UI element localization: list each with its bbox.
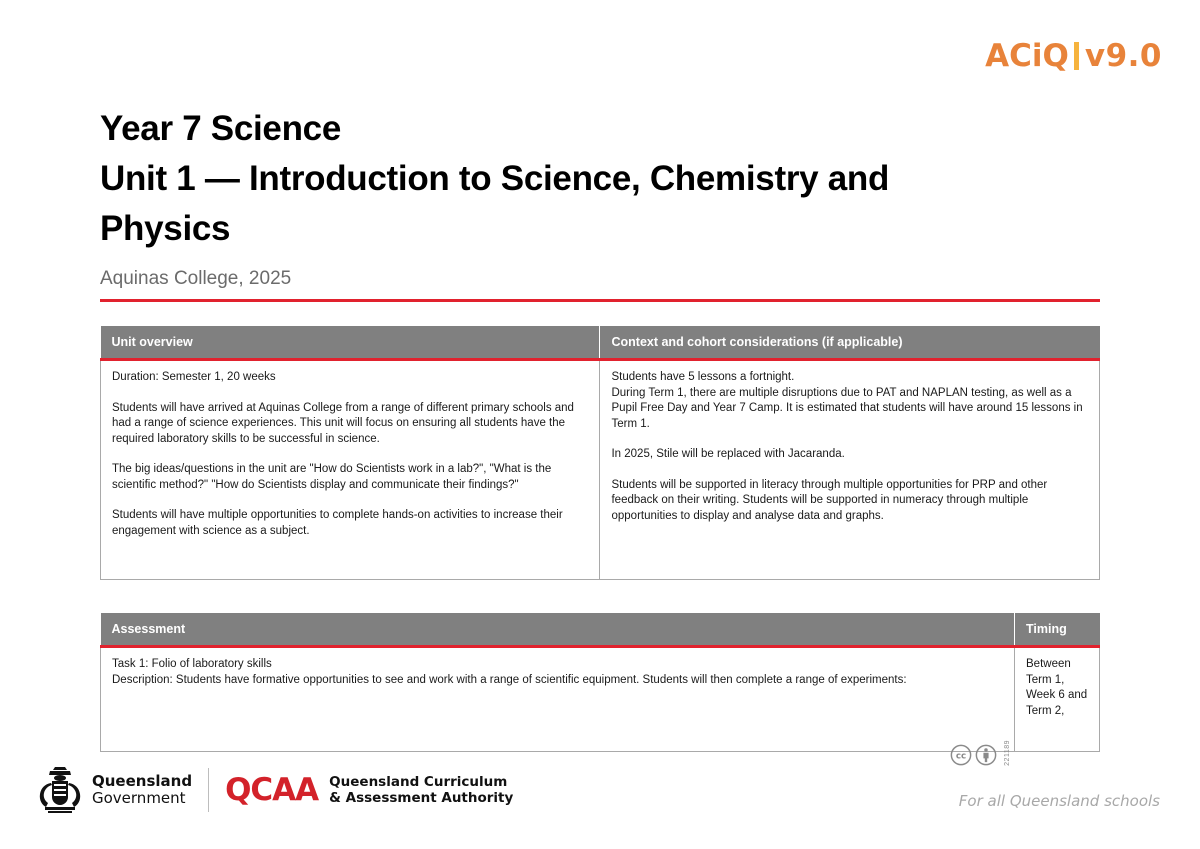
page-title-line-3: Physics xyxy=(100,204,1060,254)
column-header-assessment: Assessment xyxy=(101,613,1015,647)
document-code: 221189 xyxy=(1004,740,1012,766)
context-paragraph: Students will be supported in literacy t… xyxy=(611,478,1088,525)
cell-assessment-task: Task 1: Folio of laboratory skills Descr… xyxy=(101,647,1015,752)
footer-tagline: For all Queensland schools xyxy=(959,792,1160,810)
column-header-unit-overview: Unit overview xyxy=(101,326,600,360)
queensland-government-wordmark: Queensland Government xyxy=(92,773,192,807)
column-header-context: Context and cohort considerations (if ap… xyxy=(600,326,1100,360)
queensland-coat-of-arms-icon xyxy=(36,765,84,815)
assessment-task-title: Task 1: Folio of laboratory skills xyxy=(112,657,1003,673)
page-subtitle: Aquinas College, 2025 xyxy=(100,266,1060,292)
slide-page: ACiQ v9.0 Year 7 Science Unit 1 — Introd… xyxy=(0,0,1200,849)
footer-logo-group: Queensland Government QCAA Queensland Cu… xyxy=(36,765,513,815)
title-red-rule xyxy=(100,299,1100,302)
unit-overview-table: Unit overview Context and cohort conside… xyxy=(100,326,1100,580)
qcaa-name-line-1: Queensland Curriculum xyxy=(329,774,513,790)
aciq-divider-bar xyxy=(1074,42,1079,70)
unit-overview-paragraph: Duration: Semester 1, 20 weeks xyxy=(112,370,588,386)
assessment-timing-text: Between Term 1, Week 6 and Term 2, xyxy=(1026,657,1088,719)
column-header-timing: Timing xyxy=(1015,613,1100,647)
svg-text:cc: cc xyxy=(956,752,966,762)
cell-assessment-timing: Between Term 1, Week 6 and Term 2, xyxy=(1015,647,1100,752)
unit-overview-paragraph: Students will have arrived at Aquinas Co… xyxy=(112,401,588,448)
unit-overview-paragraph: Students will have multiple opportunitie… xyxy=(112,508,588,539)
page-title-line-1: Year 7 Science xyxy=(100,104,1060,154)
qld-gov-line-1: Queensland xyxy=(92,773,192,790)
creative-commons-group: cc 221189 xyxy=(950,740,1012,766)
qld-gov-line-2: Government xyxy=(92,790,192,807)
assessment-table: Assessment Timing Task 1: Folio of labor… xyxy=(100,613,1100,752)
assessment-task-description: Description: Students have formative opp… xyxy=(112,673,1003,689)
aciq-logo: ACiQ v9.0 xyxy=(985,38,1162,74)
aciq-version-label: v9.0 xyxy=(1085,38,1162,74)
context-paragraph: In 2025, Stile will be replaced with Jac… xyxy=(611,447,1088,463)
context-paragraph: During Term 1, there are multiple disrup… xyxy=(611,386,1088,433)
qcaa-full-name: Queensland Curriculum & Assessment Autho… xyxy=(329,774,513,806)
cell-unit-overview: Duration: Semester 1, 20 weeks Students … xyxy=(101,360,600,580)
context-paragraph: Students have 5 lessons a fortnight. xyxy=(611,370,1088,386)
table-row: Task 1: Folio of laboratory skills Descr… xyxy=(101,647,1100,752)
creative-commons-icon: cc xyxy=(950,744,972,766)
page-title-line-2: Unit 1 — Introduction to Science, Chemis… xyxy=(100,154,1060,204)
table-header-row: Unit overview Context and cohort conside… xyxy=(101,326,1100,360)
table-header-row: Assessment Timing xyxy=(101,613,1100,647)
footer-logo-divider xyxy=(208,768,209,812)
qcaa-wordmark: QCAA xyxy=(225,772,318,808)
aciq-wordmark: ACiQ xyxy=(985,38,1069,74)
unit-overview-paragraph: The big ideas/questions in the unit are … xyxy=(112,462,588,493)
qcaa-name-line-2: & Assessment Authority xyxy=(329,790,513,806)
creative-commons-attribution-icon xyxy=(975,744,997,766)
table-row: Duration: Semester 1, 20 weeks Students … xyxy=(101,360,1100,580)
cell-context-considerations: Students have 5 lessons a fortnight. Dur… xyxy=(600,360,1100,580)
page-title-block: Year 7 Science Unit 1 — Introduction to … xyxy=(100,104,1060,292)
